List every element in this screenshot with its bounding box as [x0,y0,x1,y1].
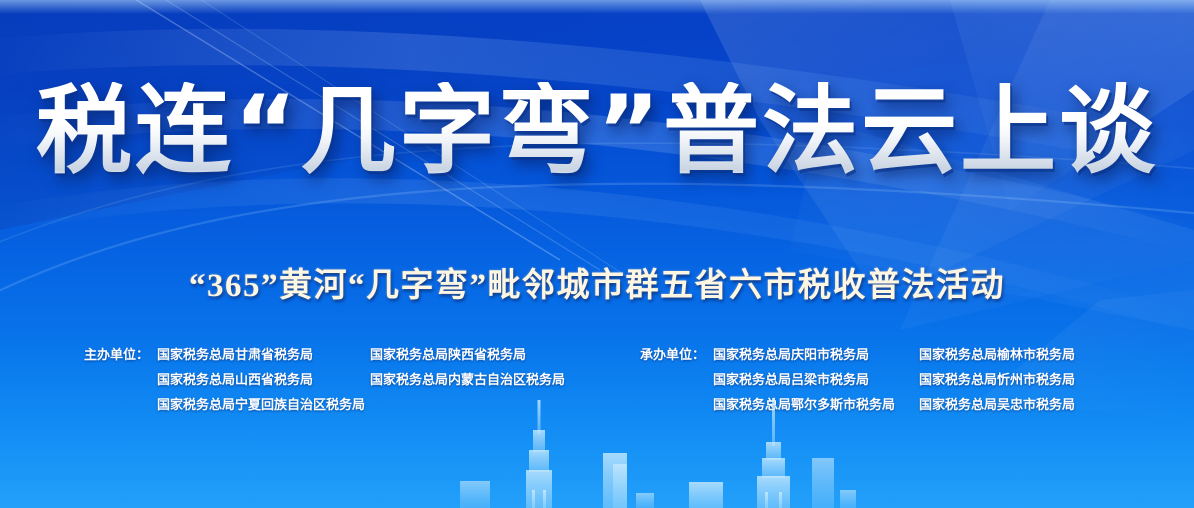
undertaker-row-2-col-1: 国家税务总局吕梁市税务局 [705,367,911,392]
host-row-3: 主办单位： 国家税务总局宁夏回族自治区税务局 [77,392,575,417]
subtitle-container: “365”黄河“几字弯”毗邻城市群五省六市税收普法活动 [0,258,1194,306]
organizer-section: 主办单位： 国家税务总局甘肃省税务局 国家税务总局陕西省税务局 主办单位： 国家… [0,342,1194,417]
host-row-1-col-1: 国家税务总局甘肃省税务局 [149,342,362,367]
host-row-1-col-2: 国家税务总局陕西省税务局 [362,342,575,367]
host-row-2-col-2: 国家税务总局内蒙古自治区税务局 [362,367,575,392]
undertaker-row-1-col-2: 国家税务总局榆林市税务局 [911,342,1117,367]
undertaker-row-3-col-1: 国家税务总局鄂尔多斯市税务局 [705,392,911,417]
top-sheen [0,0,1194,14]
host-row-3-col-1: 国家税务总局宁夏回族自治区税务局 [149,392,362,417]
undertaker-row-2: 承办单位： 国家税务总局吕梁市税务局 国家税务总局忻州市税务局 [633,367,1117,392]
undertaker-row-3-col-2: 国家税务总局吴忠市税务局 [911,392,1117,417]
host-row-3-col-2 [362,392,575,417]
host-organizer-block: 主办单位： 国家税务总局甘肃省税务局 国家税务总局陕西省税务局 主办单位： 国家… [77,342,575,417]
banner-subtitle: “365”黄河“几字弯”毗邻城市群五省六市税收普法活动 [189,258,1005,306]
host-row-2: 主办单位： 国家税务总局山西省税务局 国家税务总局内蒙古自治区税务局 [77,367,575,392]
undertaker-row-1-col-1: 国家税务总局庆阳市税务局 [705,342,911,367]
title-container: 税连“几字弯”普法云上谈 [0,82,1194,182]
undertaker-label: 承办单位： [633,342,705,367]
undertaker-organizer-block: 承办单位： 国家税务总局庆阳市税务局 国家税务总局榆林市税务局 承办单位： 国家… [633,342,1117,417]
host-row-1: 主办单位： 国家税务总局甘肃省税务局 国家税务总局陕西省税务局 [77,342,575,367]
undertaker-row-2-col-2: 国家税务总局忻州市税务局 [911,367,1117,392]
undertaker-row-3: 承办单位： 国家税务总局鄂尔多斯市税务局 国家税务总局吴忠市税务局 [633,392,1117,417]
event-banner: 税连“几字弯”普法云上谈 “365”黄河“几字弯”毗邻城市群五省六市税收普法活动… [0,0,1194,508]
host-row-2-col-1: 国家税务总局山西省税务局 [149,367,362,392]
host-label: 主办单位： [77,342,149,367]
undertaker-row-1: 承办单位： 国家税务总局庆阳市税务局 国家税务总局榆林市税务局 [633,342,1117,367]
banner-title: 税连“几字弯”普法云上谈 [36,82,1158,182]
